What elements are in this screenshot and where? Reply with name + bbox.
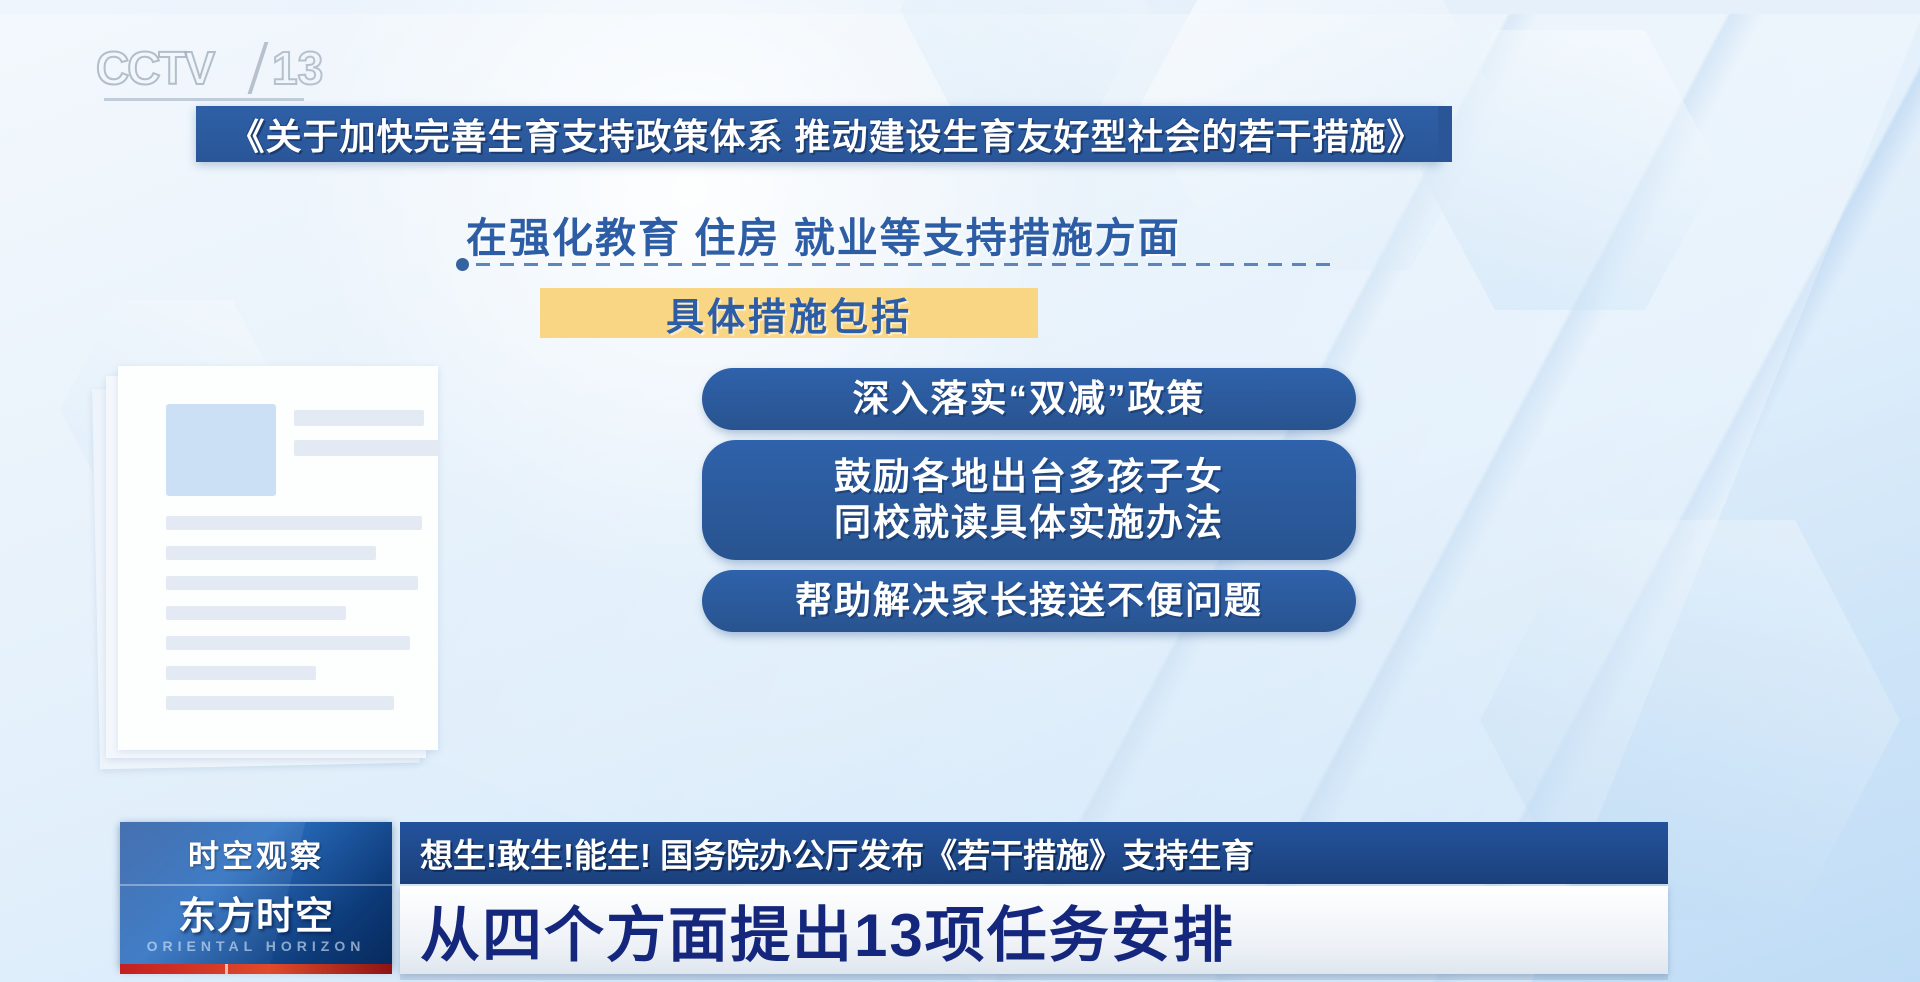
subheading-text: 在强化教育 住房 就业等支持措施方面 <box>466 204 1526 260</box>
measure-pill: 帮助解决家长接送不便问题 <box>702 570 1356 632</box>
ticker-main-text: 从四个方面提出13项任务安排 <box>420 886 1660 974</box>
ticker-headline-text: 想生!敢生!能生! 国务院办公厅发布《若干措施》支持生育 <box>420 822 1660 884</box>
document-text-line <box>294 410 424 426</box>
segment-label: 时空观察 <box>120 822 392 884</box>
top-gradient-band <box>0 0 1920 14</box>
document-text-line <box>166 696 394 710</box>
ticker-drop-shadow <box>400 974 1668 980</box>
measure-pill-line: 帮助解决家长接送不便问题 <box>795 578 1263 624</box>
document-illustration <box>86 362 456 782</box>
document-text-line <box>166 636 410 650</box>
headline-banner-text: 《关于加快完善生育支持政策体系 推动建设生育友好型社会的若干措施》 <box>206 104 1446 164</box>
document-text-line <box>166 606 346 620</box>
document-thumbnail <box>166 404 276 496</box>
cctv-logo-slash <box>248 42 269 94</box>
highlight-box-text: 具体措施包括 <box>540 286 1038 340</box>
document-text-line <box>166 546 376 560</box>
measure-pill-line: 鼓励各地出台多孩子女 <box>834 454 1224 500</box>
document-sheet-front <box>118 366 438 750</box>
document-text-line <box>294 440 440 456</box>
document-text-line <box>166 576 418 590</box>
measure-pill: 深入落实“双减”政策 <box>702 368 1356 430</box>
bullet-dot-icon <box>456 258 469 271</box>
cctv-logo: CCTV 13 新 <box>96 40 326 98</box>
cctv-logo-text: CCTV <box>96 40 213 96</box>
accent-red-bar <box>120 964 392 974</box>
dashed-rule <box>476 263 1336 266</box>
measure-pill-line: 同校就读具体实施办法 <box>834 500 1224 546</box>
cctv-logo-underline <box>104 98 304 101</box>
measure-pill-line: 深入落实“双减”政策 <box>853 376 1206 422</box>
hexagon-shape-3 <box>1420 30 1720 310</box>
measure-pill: 鼓励各地出台多孩子女 同校就读具体实施办法 <box>702 440 1356 560</box>
accent-red-bar-tick <box>225 964 228 974</box>
subheading-underline <box>456 258 1336 270</box>
program-name: 东方时空 <box>120 886 392 938</box>
cctv-logo-number: 13 <box>272 40 323 96</box>
document-text-line <box>166 516 422 530</box>
program-name-english: ORIENTAL HORIZON <box>120 934 392 958</box>
document-text-line <box>166 666 316 680</box>
broadcast-screen: CCTV 13 新 《关于加快完善生育支持政策体系 推动建设生育友好型社会的若干… <box>0 0 1920 982</box>
